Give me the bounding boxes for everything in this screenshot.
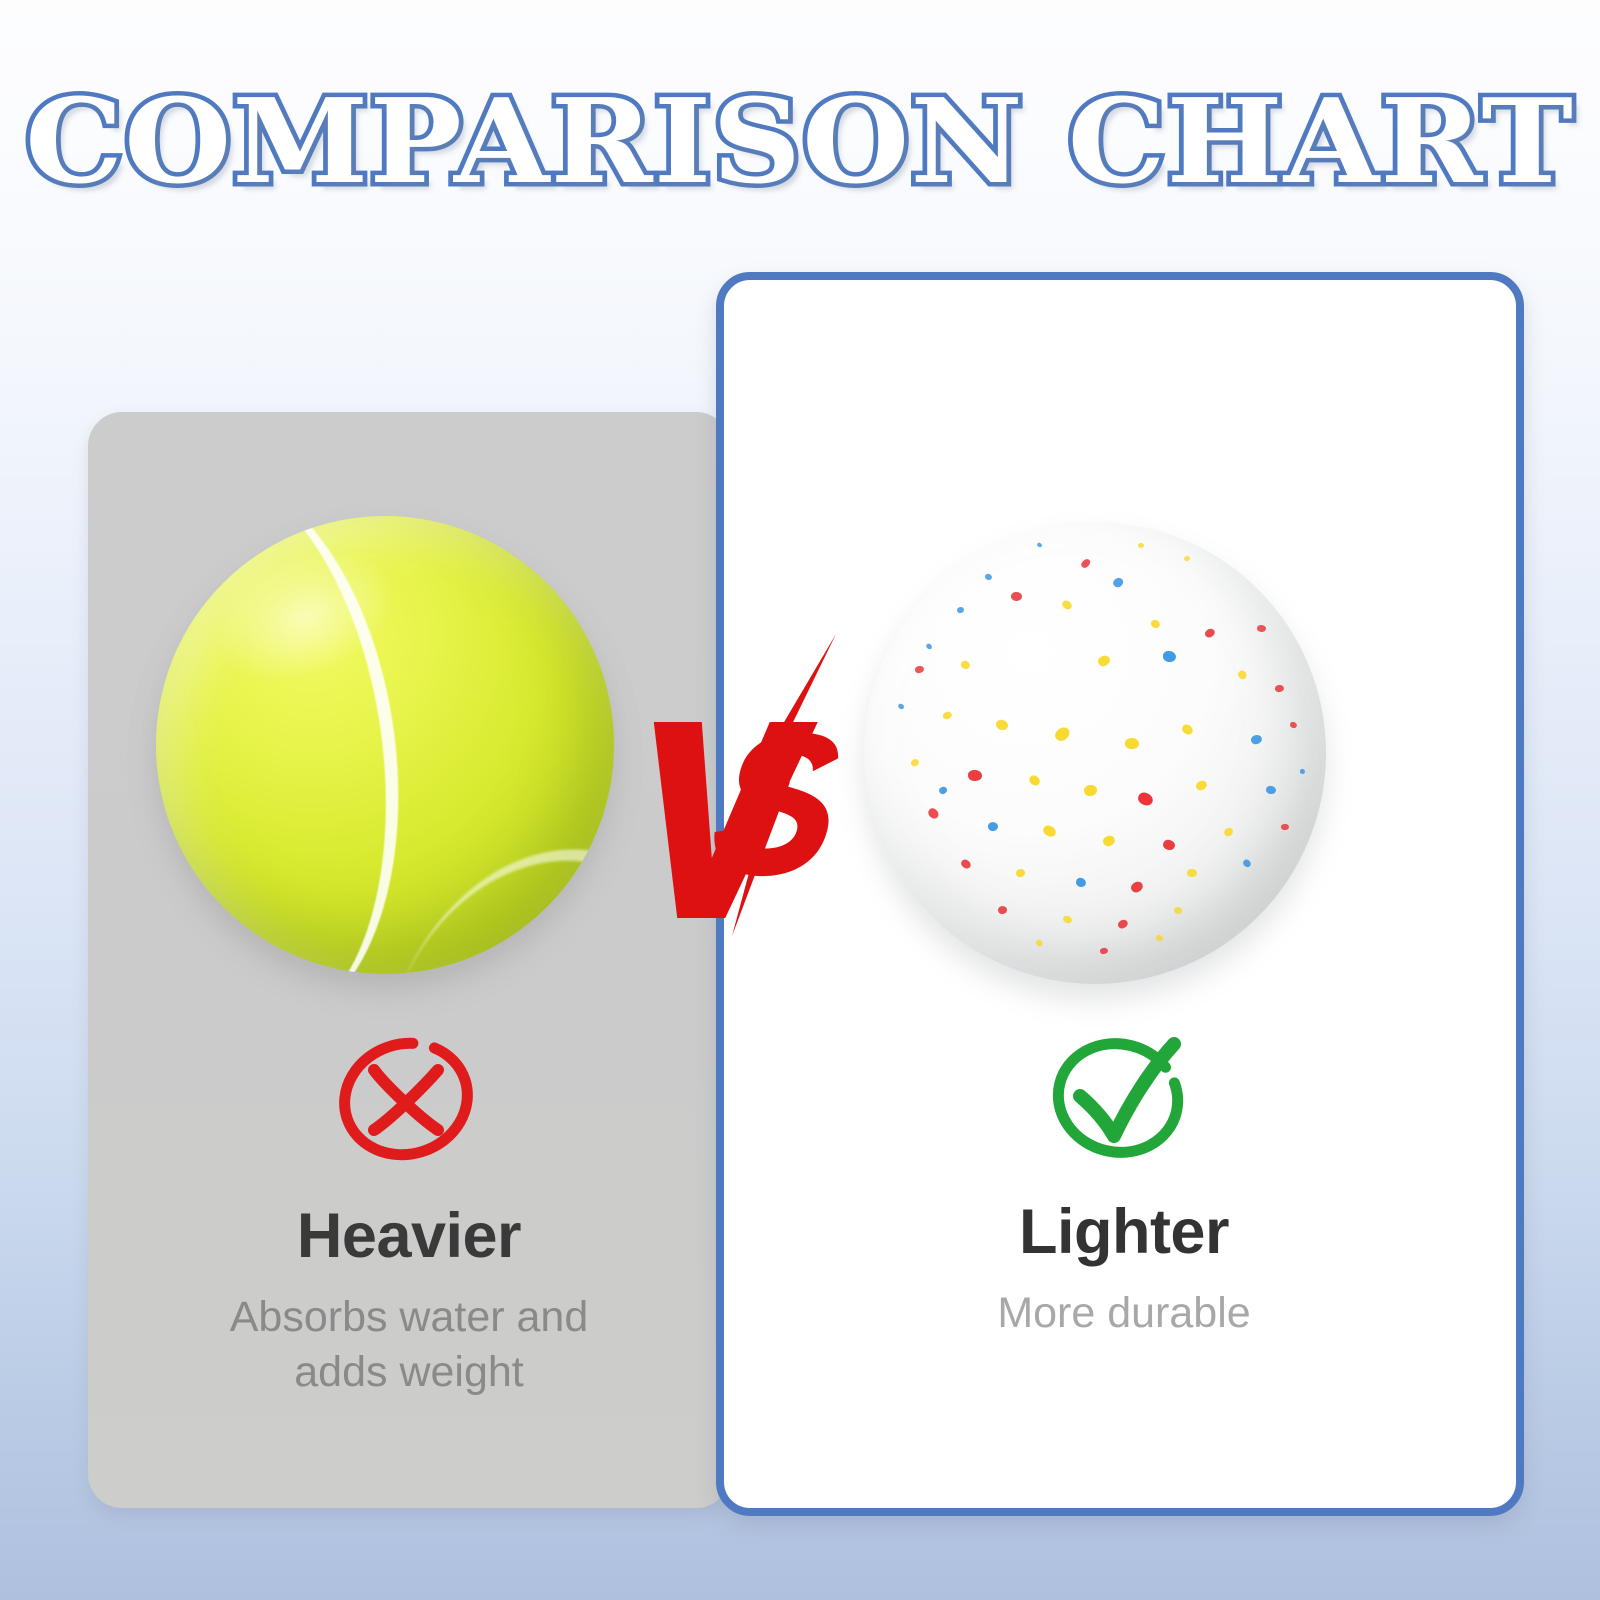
- ball-dot: [1097, 653, 1112, 667]
- ball-dot: [1101, 834, 1116, 848]
- ball-dot: [1061, 599, 1074, 611]
- ball-dot: [1150, 619, 1161, 629]
- check-icon-mark: [1080, 1044, 1174, 1136]
- right-label-group: Lighter More durable: [724, 1200, 1524, 1341]
- check-icon: [1032, 1030, 1212, 1162]
- left-description-line-2: adds weight: [294, 1348, 524, 1396]
- ball-dot: [995, 719, 1009, 732]
- ball-dot: [1083, 783, 1098, 796]
- left-description: Absorbs water and adds weight: [88, 1290, 730, 1400]
- ball-dot: [925, 643, 933, 651]
- ball-dot: [926, 806, 940, 820]
- ball-dot: [1036, 542, 1042, 548]
- ball-dot: [1184, 555, 1191, 562]
- ball-dot: [1223, 826, 1235, 838]
- ball-dot: [942, 711, 953, 721]
- page-title: COMPARISON CHART: [26, 84, 1575, 200]
- ball-dot: [987, 822, 999, 833]
- ball-dot: [1237, 669, 1249, 681]
- ball-dot: [897, 703, 905, 711]
- ball-dot: [1242, 859, 1253, 870]
- left-description-line-1: Absorbs water and: [230, 1293, 589, 1341]
- ball-dot: [1174, 906, 1183, 913]
- polka-dot-ball-sphere: [864, 522, 1326, 984]
- right-description: More durable: [724, 1286, 1524, 1341]
- ball-dot: [1290, 722, 1298, 729]
- ball-dot: [1300, 769, 1306, 774]
- ball-dot: [938, 785, 948, 794]
- page-title-container: COMPARISON CHART: [0, 84, 1600, 200]
- ball-dot: [1129, 879, 1145, 894]
- ball-dot: [1028, 774, 1043, 788]
- ball-dot: [968, 770, 982, 782]
- ball-dot: [985, 574, 993, 581]
- ball-dot: [1053, 725, 1072, 744]
- ball-dot: [1280, 823, 1288, 830]
- ball-dot: [959, 858, 971, 870]
- polka-dot-ball-image: [862, 520, 1332, 990]
- ball-dot: [1265, 785, 1276, 794]
- ball-dot: [1035, 938, 1044, 947]
- ball-dot: [1111, 576, 1124, 589]
- ball-dot: [1180, 723, 1194, 736]
- ball-dot: [1011, 591, 1022, 600]
- left-label-group: Heavier Absorbs water and adds weight: [88, 1204, 730, 1400]
- ball-dot: [1075, 877, 1087, 888]
- ball-dot: [1275, 684, 1285, 693]
- ball-dot: [909, 757, 920, 768]
- ball-dot: [1162, 839, 1176, 851]
- ball-dot: [1156, 934, 1164, 942]
- versus-letter-s: [707, 733, 845, 877]
- ball-dot: [1138, 542, 1144, 548]
- right-headline: Lighter: [724, 1200, 1524, 1266]
- ball-dot: [960, 660, 972, 671]
- ball-dot: [914, 665, 925, 674]
- tennis-ball-image: [152, 512, 618, 990]
- ball-dot: [957, 606, 966, 614]
- ball-dot: [1116, 918, 1129, 931]
- ball-dot: [1162, 650, 1176, 662]
- ball-dot: [1041, 824, 1057, 839]
- ball-dot: [1137, 791, 1155, 808]
- ball-dot: [1015, 868, 1026, 878]
- ball-dot: [1125, 738, 1139, 750]
- ball-dot: [1194, 779, 1208, 792]
- versus-badge: [640, 630, 880, 940]
- ball-dot: [1080, 558, 1092, 570]
- ball-dot: [1204, 627, 1217, 640]
- tennis-ball-highlight: [194, 525, 415, 707]
- ball-dot: [1062, 914, 1073, 924]
- cross-icon: [316, 1034, 496, 1164]
- ball-dot: [1250, 733, 1264, 746]
- tennis-ball-sphere: [156, 516, 614, 974]
- left-headline: Heavier: [88, 1204, 730, 1270]
- ball-dot: [1187, 869, 1196, 877]
- ball-dot: [1257, 624, 1266, 632]
- ball-dot: [1100, 948, 1109, 956]
- ball-dot: [997, 905, 1008, 915]
